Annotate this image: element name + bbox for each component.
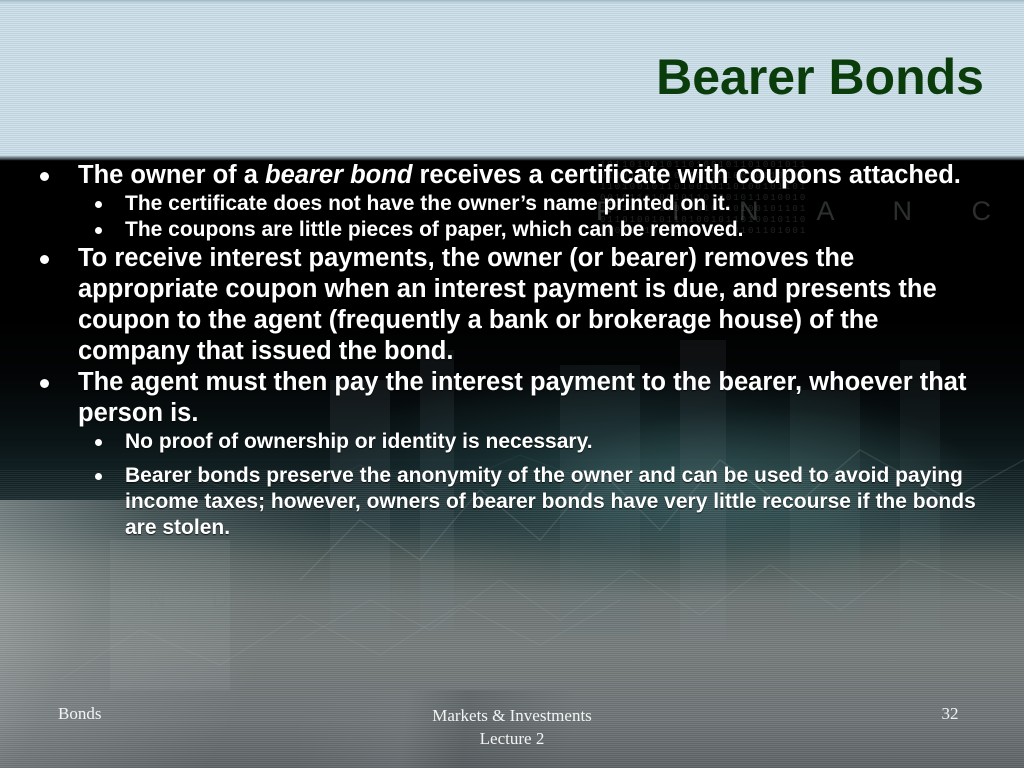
bullet-dot-icon: [40, 379, 49, 388]
list-item: No proof of ownership or identity is nec…: [0, 429, 1024, 455]
bullet-text: The owner of a bearer bond receives a ce…: [78, 161, 961, 189]
bullet-text: No proof of ownership or identity is nec…: [125, 430, 593, 453]
list-item: The coupons are little pieces of paper, …: [0, 217, 1024, 243]
bullet-dot-icon: [95, 227, 102, 234]
list-item: The certificate does not have the owner’…: [0, 191, 1024, 217]
bullet-list: The owner of a bearer bond receives a ce…: [0, 160, 1024, 541]
bullet-text-run: receives a certificate with coupons atta…: [412, 161, 960, 189]
slide-number: 32: [900, 704, 1000, 724]
bullet-dot-icon: [95, 473, 102, 480]
sub-bullet-list: No proof of ownership or identity is nec…: [0, 429, 1024, 541]
slide-header: Bearer Bonds: [0, 0, 1024, 160]
list-item: The owner of a bearer bond receives a ce…: [0, 160, 1024, 191]
bullet-dot-icon: [95, 201, 102, 208]
bullet-dot-icon: [40, 172, 49, 181]
footer-lecture-number: Lecture 2: [0, 727, 1024, 750]
list-item: Bearer bonds preserve the anonymity of t…: [0, 463, 1024, 541]
sub-bullet-list: The certificate does not have the owner’…: [0, 191, 1024, 243]
bullet-text: Bearer bonds preserve the anonymity of t…: [125, 464, 976, 539]
slide-footer: Bonds Markets & Investments Lecture 2 32: [0, 690, 1024, 768]
sublist-container: No proof of ownership or identity is nec…: [0, 429, 1024, 541]
sublist-container: The certificate does not have the owner’…: [0, 191, 1024, 243]
bullet-text: The certificate does not have the owner’…: [125, 192, 731, 215]
slide-body: The owner of a bearer bond receives a ce…: [0, 160, 1024, 690]
list-item: To receive interest payments, the owner …: [0, 243, 1024, 367]
bullet-dot-icon: [40, 255, 49, 264]
bullet-text-emphasis: bearer bond: [265, 161, 412, 189]
bullet-text: The agent must then pay the interest pay…: [78, 368, 966, 427]
bullet-dot-icon: [95, 439, 102, 446]
presentation-slide: 1011010010110100101101001011 01001011010…: [0, 0, 1024, 768]
bullet-text: To receive interest payments, the owner …: [78, 244, 937, 365]
page-title: Bearer Bonds: [656, 52, 984, 102]
header-top-edge: [0, 0, 1024, 3]
footer-course-title: Markets & Investments: [0, 704, 1024, 727]
bullet-text: The coupons are little pieces of paper, …: [125, 218, 744, 241]
list-item: The agent must then pay the interest pay…: [0, 367, 1024, 429]
footer-course-label: Markets & Investments Lecture 2: [0, 704, 1024, 750]
bullet-text-run: The owner of a: [78, 161, 265, 189]
